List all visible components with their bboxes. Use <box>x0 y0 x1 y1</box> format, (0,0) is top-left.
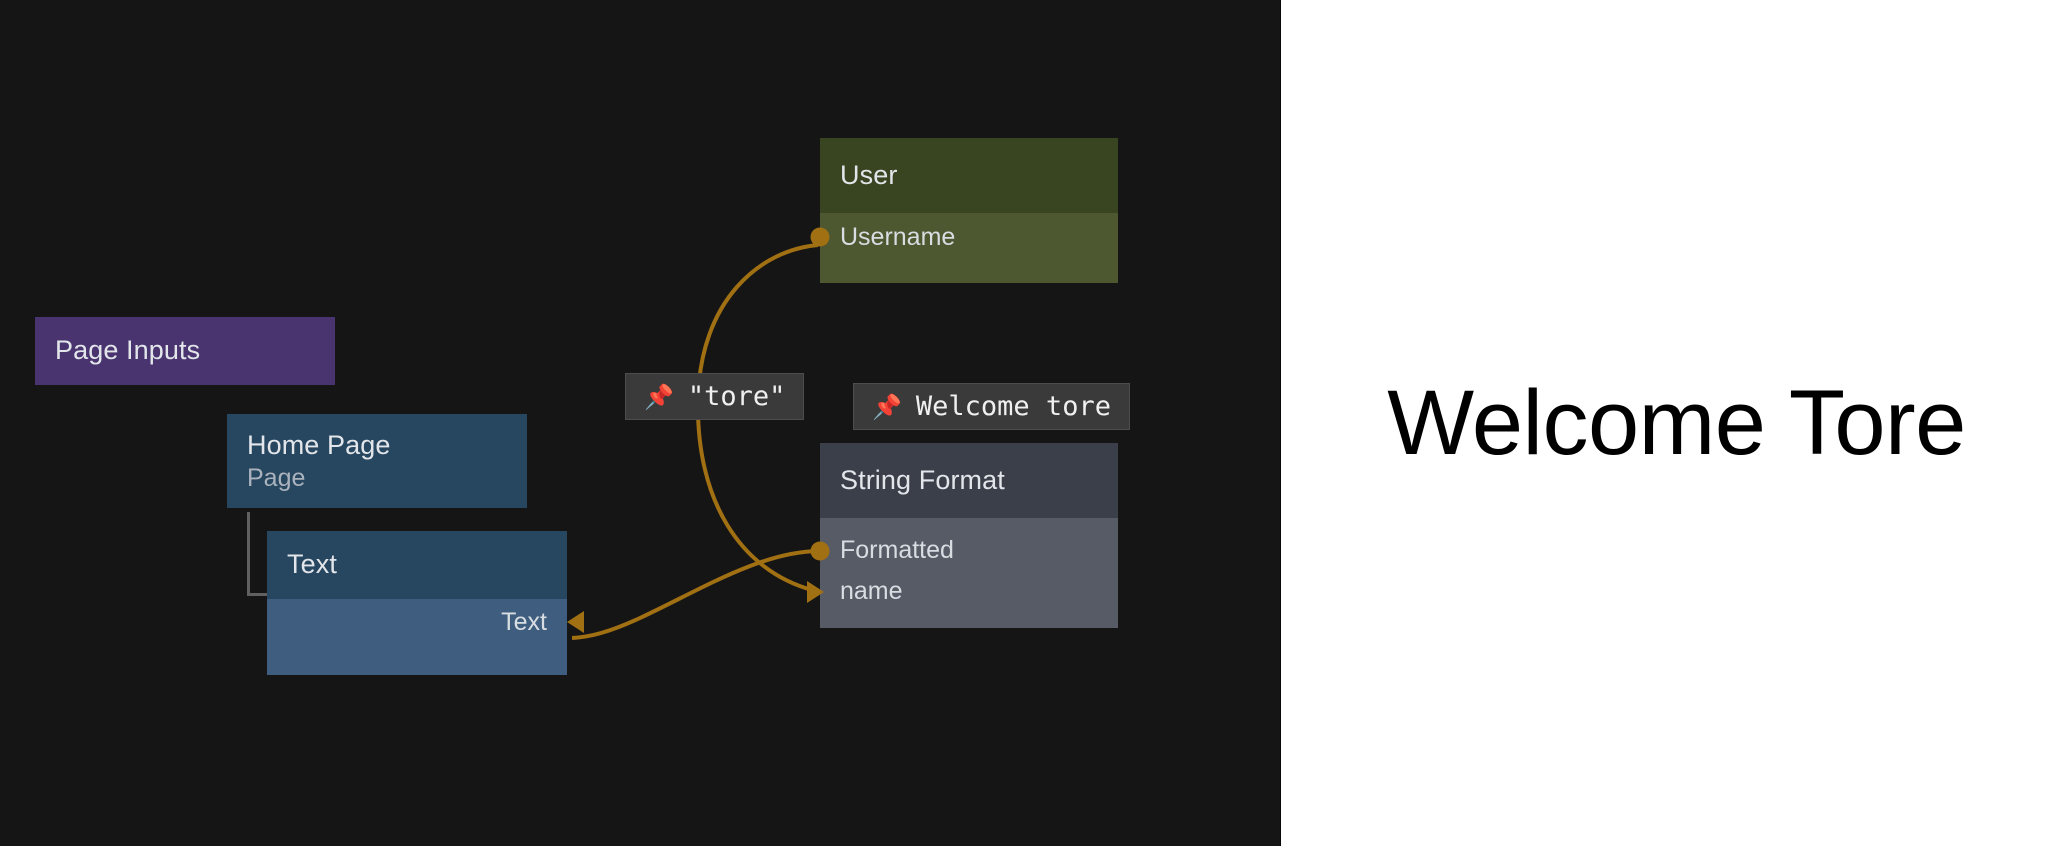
port-arrow-icon[interactable] <box>567 611 584 633</box>
port-arrow-icon[interactable] <box>807 581 824 603</box>
tree-connector-elbow <box>247 512 269 596</box>
node-page-inputs-header: Page Inputs <box>35 317 335 385</box>
node-user-body: Username <box>820 213 1118 283</box>
node-text-body: Text <box>267 599 567 675</box>
node-string-format[interactable]: String Format Formatted name <box>820 443 1118 628</box>
port-row-formatted-output[interactable]: Formatted <box>820 530 1118 571</box>
node-text-header: Text <box>267 531 567 599</box>
node-home-page-header: Home Page Page <box>227 414 527 508</box>
node-string-format-body: Formatted name <box>820 518 1118 628</box>
port-label-formatted: Formatted <box>840 536 954 565</box>
pin-label-tore-text: "tore" <box>688 383 786 410</box>
node-home-page-title: Home Page <box>247 428 507 464</box>
port-row-username-output[interactable]: Username <box>820 213 1118 261</box>
node-home-page-subtitle: Page <box>247 462 507 495</box>
preview-pane: Welcome Tore <box>1281 0 2072 846</box>
node-text-title: Text <box>287 547 337 583</box>
port-dot-icon[interactable] <box>811 228 830 247</box>
node-home-page[interactable]: Home Page Page <box>227 414 527 508</box>
port-label-name: name <box>840 577 903 606</box>
pin-label-welcome-tore[interactable]: 📌 Welcome tore <box>853 383 1130 430</box>
pushpin-icon: 📌 <box>644 385 674 409</box>
port-label-username: Username <box>840 223 955 252</box>
port-row-name-input[interactable]: name <box>820 571 1118 612</box>
port-dot-icon[interactable] <box>811 541 830 560</box>
pushpin-icon: 📌 <box>872 395 902 419</box>
port-label-text: Text <box>501 608 547 637</box>
node-user[interactable]: User Username <box>820 138 1118 283</box>
wire-formatted-to-text <box>572 551 818 638</box>
node-page-inputs-title: Page Inputs <box>55 333 200 369</box>
node-user-title: User <box>840 158 897 194</box>
node-page-inputs[interactable]: Page Inputs <box>35 317 335 385</box>
node-user-header: User <box>820 138 1118 213</box>
pin-label-tore[interactable]: 📌 "tore" <box>625 373 804 420</box>
node-string-format-header: String Format <box>820 443 1118 518</box>
preview-heading: Welcome Tore <box>1387 371 1966 476</box>
node-text[interactable]: Text Text <box>267 531 567 675</box>
app-window: Page Inputs Home Page Page Text Text <box>0 0 2072 846</box>
node-string-format-title: String Format <box>840 463 1005 499</box>
node-graph-canvas[interactable]: Page Inputs Home Page Page Text Text <box>0 0 1280 846</box>
port-row-text-input[interactable]: Text <box>267 599 567 645</box>
pin-label-welcome-tore-text: Welcome tore <box>916 393 1111 420</box>
